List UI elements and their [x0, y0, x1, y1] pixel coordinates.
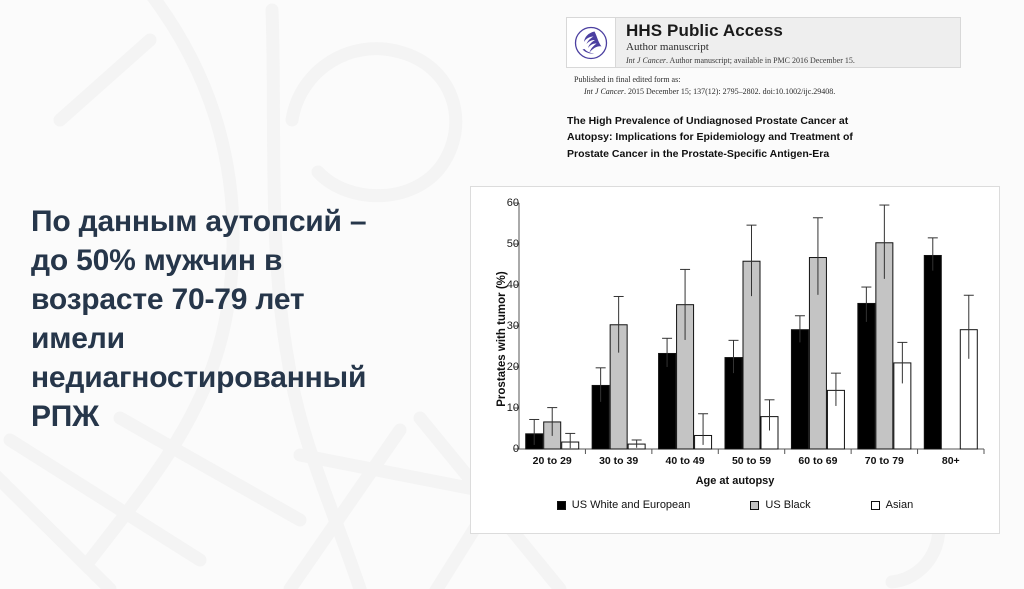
- y-tick-label: 0: [493, 443, 519, 455]
- hhs-banner-text: HHS Public Access Author manuscript Int …: [616, 18, 855, 67]
- legend-swatch-icon: [557, 501, 566, 510]
- article-title: The High Prevalence of Undiagnosed Prost…: [566, 113, 961, 162]
- legend-item[interactable]: US Black: [750, 499, 810, 511]
- hhs-citation-journal: Int J Cancer: [626, 56, 666, 65]
- x-tick-label: 50 to 59: [732, 455, 771, 467]
- bar-chart: 0102030405060 Prostates with tumor (%) 2…: [471, 187, 999, 533]
- presentation-slide: По данным аутопсий – до 50% мужчин в воз…: [0, 0, 1024, 589]
- legend-label: US Black: [765, 499, 810, 511]
- hhs-eagle-logo-icon: [567, 18, 616, 67]
- x-tick-label: 20 to 29: [533, 455, 572, 467]
- published-label: Published in final edited form as:: [574, 74, 961, 86]
- bar: [659, 353, 676, 449]
- hhs-subtitle: Author manuscript: [626, 41, 855, 55]
- x-tick-label: 80+: [942, 455, 960, 467]
- published-citation: Int J Cancer. 2015 December 15; 137(12):…: [574, 86, 961, 98]
- x-tick-label: 70 to 79: [865, 455, 904, 467]
- bar: [858, 303, 875, 449]
- paper-header: HHS Public Access Author manuscript Int …: [566, 17, 961, 162]
- chart-legend: US White and EuropeanUS BlackAsian: [471, 499, 999, 511]
- x-tick-label: 40 to 49: [666, 455, 705, 467]
- hhs-title: HHS Public Access: [626, 22, 855, 40]
- bar: [791, 330, 808, 449]
- published-rest: . 2015 December 15; 137(12): 2795–2802. …: [624, 87, 835, 96]
- legend-swatch-icon: [871, 501, 880, 510]
- x-tick-label: 30 to 39: [599, 455, 638, 467]
- y-axis-label: Prostates with tumor (%): [496, 249, 508, 429]
- x-axis-label: Age at autopsy: [471, 475, 999, 487]
- legend-label: Asian: [886, 499, 914, 511]
- x-tick-label: 60 to 69: [798, 455, 837, 467]
- legend-item[interactable]: US White and European: [557, 499, 691, 511]
- hhs-citation-rest: . Author manuscript; available in PMC 20…: [666, 56, 855, 65]
- published-block: Published in final edited form as: Int J…: [566, 74, 961, 97]
- published-journal: Int J Cancer: [584, 87, 624, 96]
- y-tick-label: 60: [493, 197, 519, 209]
- figure-panel: 0102030405060 Prostates with tumor (%) 2…: [470, 186, 1000, 534]
- legend-item[interactable]: Asian: [871, 499, 914, 511]
- bar: [924, 255, 941, 449]
- chart-canvas: [471, 187, 1001, 487]
- legend-label: US White and European: [572, 499, 691, 511]
- hhs-public-access-banner: HHS Public Access Author manuscript Int …: [566, 17, 961, 68]
- legend-swatch-icon: [750, 501, 759, 510]
- page-title: По данным аутопсий – до 50% мужчин в воз…: [31, 202, 441, 436]
- hhs-citation: Int J Cancer. Author manuscript; availab…: [626, 56, 855, 66]
